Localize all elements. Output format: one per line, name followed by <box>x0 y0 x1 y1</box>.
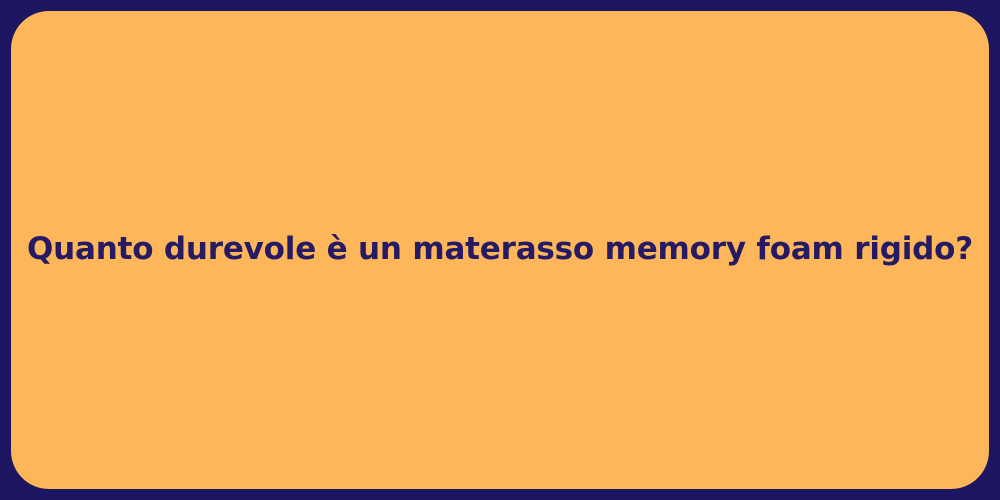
outer-frame: Quanto durevole è un materasso memory fo… <box>0 0 1000 500</box>
content-card: Quanto durevole è un materasso memory fo… <box>11 11 989 489</box>
page-title: Quanto durevole è un materasso memory fo… <box>11 231 989 269</box>
